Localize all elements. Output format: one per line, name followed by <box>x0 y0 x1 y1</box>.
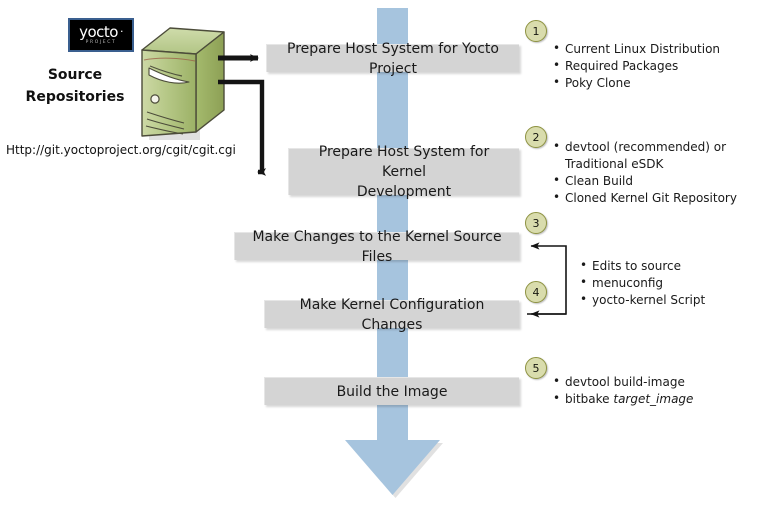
step-3-4-bullet-list: Edits to source menuconfig yocto-kernel … <box>580 258 705 309</box>
process-box-2-label: Prepare Host System for Kernel Developme… <box>297 142 511 202</box>
yocto-project-logo: yocto· PROJECT <box>68 18 134 52</box>
step-number-3: 3 <box>525 212 547 234</box>
step-1-number: 1 <box>533 25 540 38</box>
list-item: Poky Clone <box>553 75 720 92</box>
step-1-bullet-list: Current Linux Distribution Required Pack… <box>553 41 720 92</box>
process-box-2-line2: Development <box>357 184 451 200</box>
list-item: Edits to source <box>580 258 705 275</box>
step-4-number: 4 <box>533 286 540 299</box>
bitbake-command: bitbake <box>565 392 613 406</box>
list-item: yocto-kernel Script <box>580 292 705 309</box>
list-item: Required Packages <box>553 58 720 75</box>
list-item: Clean Build <box>553 173 737 190</box>
source-label-line1: Source <box>12 64 138 86</box>
source-repositories-label: Source Repositories <box>12 64 138 108</box>
step-2-number: 2 <box>533 131 540 144</box>
arrow-feedback-loop-step4-step3 <box>527 246 566 314</box>
list-item: bitbake target_image <box>553 391 693 408</box>
process-box-prepare-host-yocto[interactable]: Prepare Host System for Yocto Project <box>266 44 519 72</box>
process-box-2-line1: Prepare Host System for Kernel <box>319 144 489 180</box>
list-item: Current Linux Distribution <box>553 41 720 58</box>
yocto-logo-subtext: PROJECT <box>86 41 117 46</box>
process-box-5-label: Build the Image <box>337 382 448 402</box>
process-box-1-label: Prepare Host System for Yocto Project <box>275 39 511 79</box>
step-5-number: 5 <box>533 362 540 375</box>
list-item: devtool (recommended) or <box>553 139 737 156</box>
source-repository-server-icon <box>142 28 224 140</box>
step-number-4: 4 <box>525 281 547 303</box>
process-box-build-image[interactable]: Build the Image <box>264 377 519 405</box>
source-label-line2: Repositories <box>12 86 138 108</box>
process-box-make-config-changes[interactable]: Make Kernel Configuration Changes <box>264 300 519 328</box>
yocto-logo-text: yocto <box>79 23 118 41</box>
workflow-blue-arrowhead <box>345 440 443 498</box>
list-item: menuconfig <box>580 275 705 292</box>
list-item: devtool build-image <box>553 374 693 391</box>
process-box-4-label: Make Kernel Configuration Changes <box>273 295 511 335</box>
source-repository-url: Http://git.yoctoproject.org/cgit/cgit.cg… <box>6 143 236 157</box>
step-number-5: 5 <box>525 357 547 379</box>
step-number-2: 2 <box>525 126 547 148</box>
step-5-bullet-list: devtool build-image bitbake target_image <box>553 374 693 408</box>
yocto-logo-dot: · <box>120 25 123 38</box>
process-box-make-source-changes[interactable]: Make Changes to the Kernel Source Files <box>234 232 519 260</box>
step-3-number: 3 <box>533 217 540 230</box>
step-2-bullet-list: devtool (recommended) or Traditional eSD… <box>553 139 737 207</box>
process-box-prepare-host-kernel[interactable]: Prepare Host System for Kernel Developme… <box>288 148 519 195</box>
list-item-continuation: Traditional eSDK <box>553 156 737 173</box>
list-item: Cloned Kernel Git Repository <box>553 190 737 207</box>
process-box-3-label: Make Changes to the Kernel Source Files <box>243 227 511 267</box>
step-number-1: 1 <box>525 20 547 42</box>
yocto-logo-wordmark: yocto· <box>79 25 123 40</box>
bitbake-target-image-arg: target_image <box>613 392 693 406</box>
